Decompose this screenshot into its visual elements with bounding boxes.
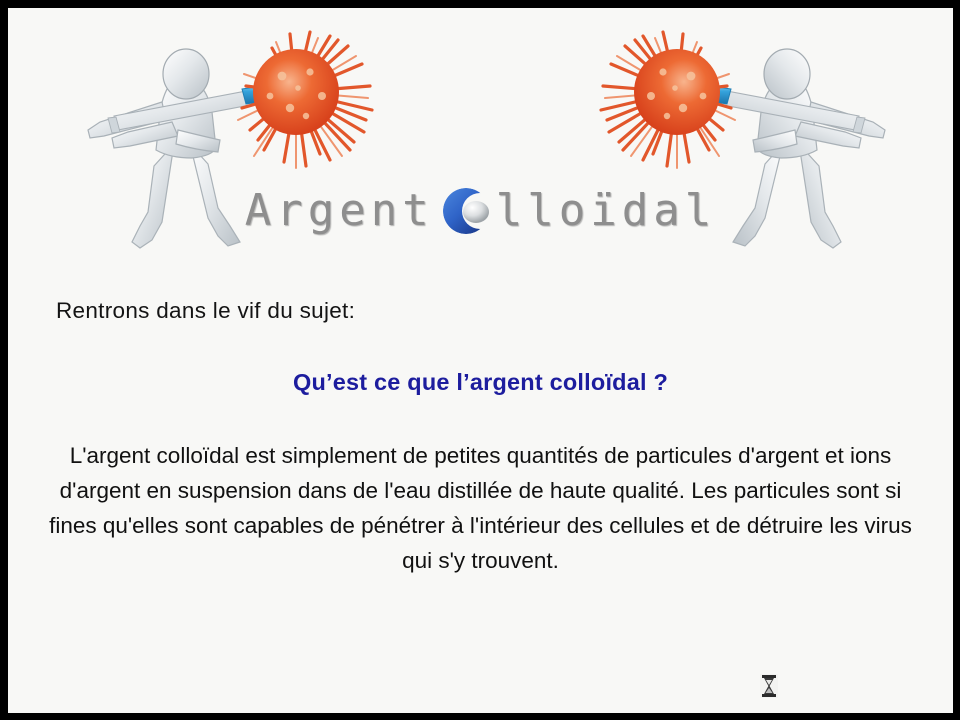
description-paragraph: L'argent colloïdal est simplement de pet… <box>8 396 953 578</box>
slide-canvas: Argent <box>8 8 953 713</box>
hourglass-wait-cursor-icon <box>760 674 778 698</box>
logo-wordmark: Argent <box>8 184 953 238</box>
slide-frame: Argent <box>0 0 960 720</box>
crescent-c-sphere-icon <box>440 184 494 238</box>
logo-text-before: Argent <box>245 185 434 236</box>
lead-in-text: Rentrons dans le vif du sujet: <box>8 290 953 324</box>
logo-text-after: lloïdal <box>496 185 716 236</box>
question-heading: Qu’est ce que l’argent colloïdal ? <box>8 324 953 396</box>
slide-content: Rentrons dans le vif du sujet: Qu’est ce… <box>8 290 953 578</box>
banner-illustration: Argent <box>8 8 953 286</box>
